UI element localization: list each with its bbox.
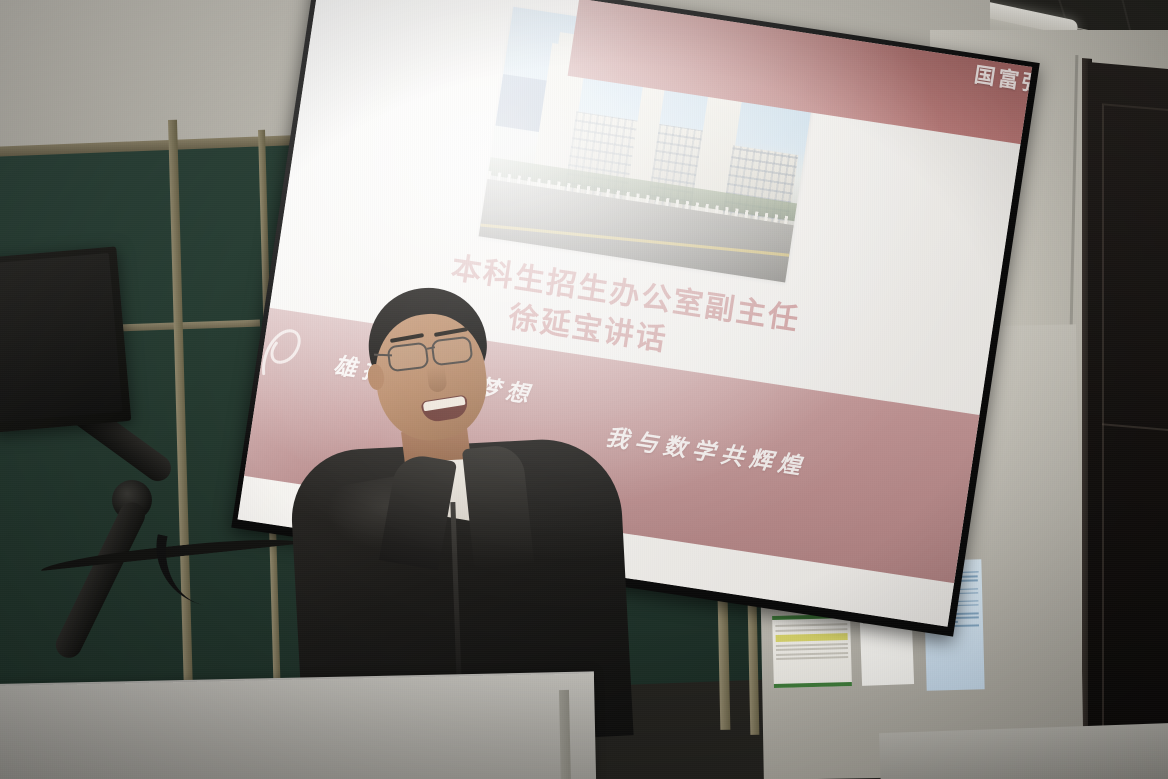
rear-desk [879,723,1168,779]
eyeglasses-lens-right [431,336,474,367]
road-center-line [480,223,789,256]
speaker-nose [426,365,447,393]
slide-calligraphy-line-2: 我与数学共辉煌 [604,418,810,482]
doorway[interactable] [1088,62,1168,779]
speaker [292,288,622,718]
poster-text-line [776,652,848,656]
slide-banner-text: 国富强 [972,59,1032,99]
podium [0,673,596,779]
poster-text-line [776,643,848,647]
poster-text-line [776,647,848,651]
monitor-screen [0,253,123,422]
poster-text-line [775,623,847,627]
poster-text-line [775,628,847,632]
poster-text-line [776,656,848,660]
notice-poster-green-border[interactable] [772,614,852,688]
poster-highlight-row [776,633,848,642]
podium-side-edge [559,690,571,779]
classroom-photo-scene: 温馨提示 教育大家注意用电、个人财物保管防火、注意卫生、爱护公物！谢谢合作 管理… [0,0,1168,779]
lectern-monitor[interactable] [0,246,131,432]
eyeglasses-lens-left [387,342,430,373]
